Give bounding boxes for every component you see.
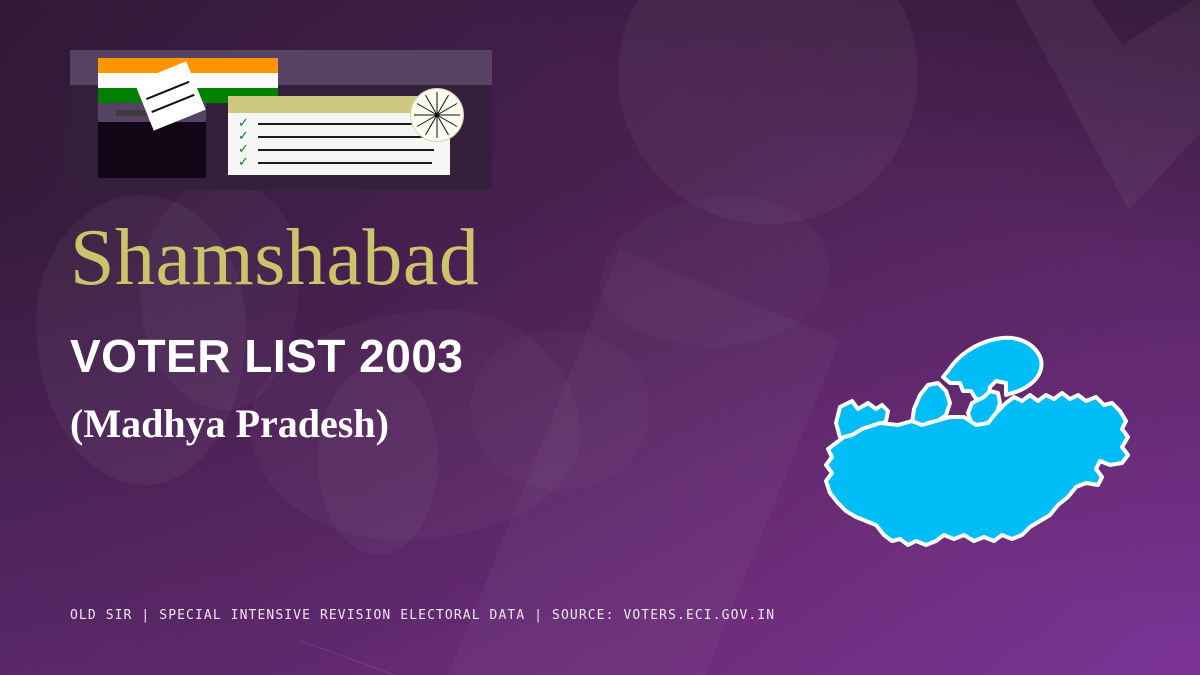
ballot-box-body	[98, 122, 206, 178]
voter-list-row: ✓	[238, 130, 440, 142]
check-icon: ✓	[238, 118, 250, 129]
check-icon: ✓	[238, 157, 250, 168]
voter-list-rule	[258, 123, 432, 125]
slide-canvas: ✓ ✓ ✓ ✓	[0, 0, 1200, 675]
voter-list-row: ✓	[238, 156, 440, 168]
election-illustration-panel: ✓ ✓ ✓ ✓	[70, 50, 492, 190]
voter-list-row: ✓	[238, 143, 440, 155]
ashoka-chakra-icon	[410, 88, 464, 142]
page-title: Shamshabad	[70, 218, 479, 298]
voter-list-rule	[258, 136, 436, 138]
page-subtitle: VOTER LIST 2003	[70, 333, 464, 379]
ballot-paper-line-2	[151, 94, 194, 113]
check-icon: ✓	[238, 144, 250, 155]
voter-list-rule	[258, 149, 434, 151]
check-icon: ✓	[238, 131, 250, 142]
voter-list-rule	[258, 162, 432, 164]
footer-source-text: OLD SIR | SPECIAL INTENSIVE REVISION ELE…	[70, 609, 775, 622]
madhya-pradesh-map-icon	[800, 325, 1150, 570]
state-name-label: (Madhya Pradesh)	[70, 404, 389, 444]
